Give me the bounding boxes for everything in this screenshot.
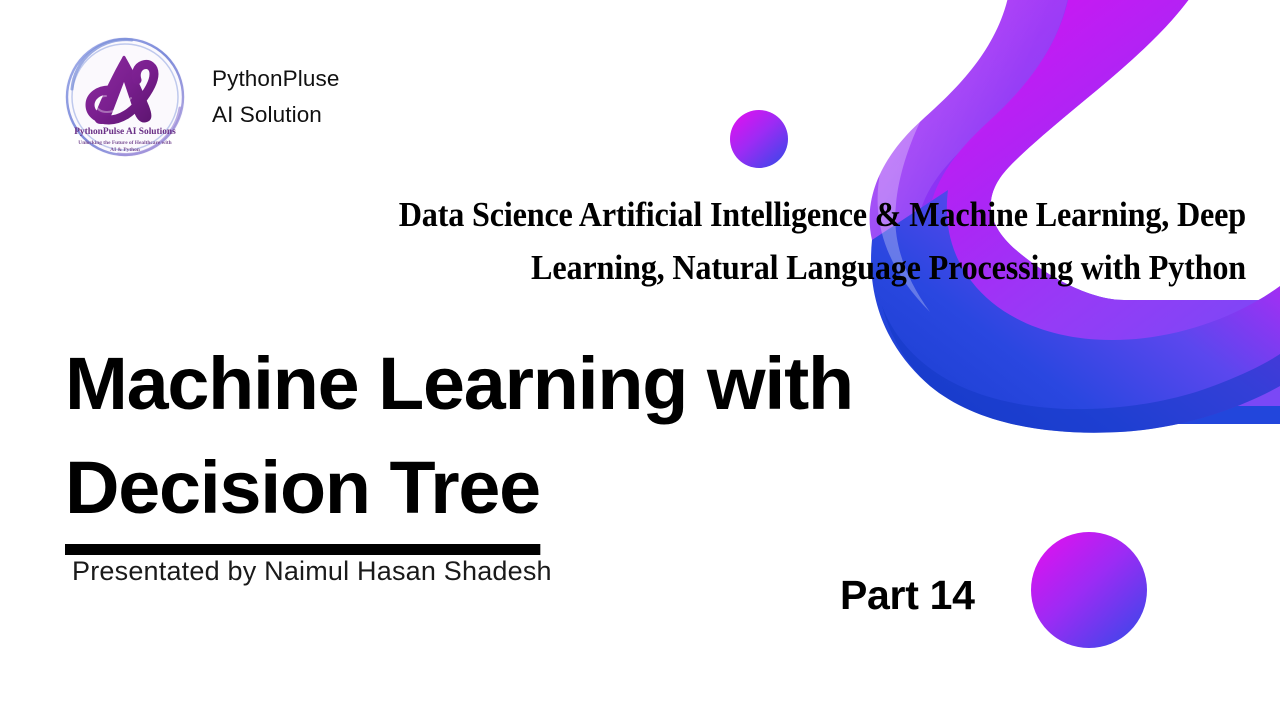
part-number-label: Part 14 <box>840 572 975 619</box>
pythonpulse-logo-icon: PythonPulse AI Solutions Unlocking the F… <box>62 34 188 160</box>
brand-name: PythonPluse AI Solution <box>212 61 339 132</box>
title-slide: PythonPulse AI Solutions Unlocking the F… <box>0 0 1280 720</box>
brand-name-line2: AI Solution <box>212 97 339 133</box>
page-title: Machine Learning with Decision Tree <box>65 332 853 555</box>
course-subtitle-line-2: Learning, Natural Language Processing wi… <box>100 241 1246 294</box>
page-title-line-2: Decision Tree <box>65 436 540 555</box>
presenter-credit: Presentated by Naimul Hasan Shadesh <box>72 556 552 587</box>
logo-tagline-line2: AI & Python <box>110 147 140 153</box>
brand-name-line1: PythonPluse <box>212 61 339 97</box>
course-subtitle-line-1: Data Science Artificial Intelligence & M… <box>100 188 1246 241</box>
brand-block: PythonPulse AI Solutions Unlocking the F… <box>62 34 339 160</box>
logo-title-text: PythonPulse AI Solutions <box>74 127 176 137</box>
page-title-line-1: Machine Learning with <box>65 332 853 436</box>
large-gradient-sphere <box>1031 532 1147 648</box>
logo-tagline-line1: Unlocking the Future of Healthcare with <box>78 140 171 146</box>
small-gradient-sphere <box>730 110 788 168</box>
